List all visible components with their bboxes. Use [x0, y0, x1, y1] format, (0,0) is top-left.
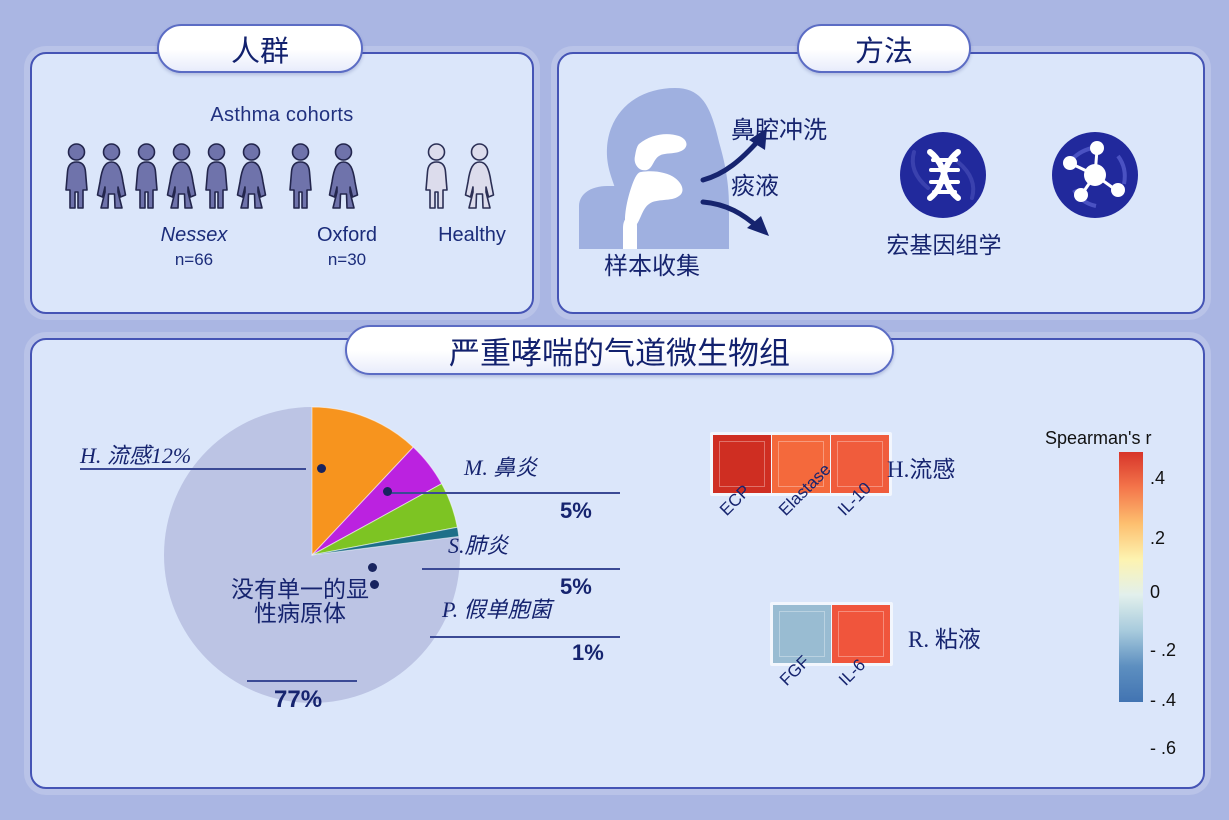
- heatmap-rmucilaginosa-title: R. 粘液: [908, 620, 981, 654]
- colorbar-tick-label: - .4: [1150, 690, 1176, 711]
- pie-center-label: 没有单一的显性病原体: [220, 578, 380, 626]
- label-sputum: 痰液: [731, 166, 779, 201]
- pie-callout-mcat-label: M. 鼻炎: [464, 450, 537, 482]
- label-sample-collection: 样本收集: [604, 246, 700, 281]
- cohort-heading: Asthma cohorts: [32, 104, 532, 127]
- heatmap-rmucilaginosa: [770, 602, 893, 666]
- pie-leader-none: [247, 680, 357, 682]
- person-icon: [235, 142, 268, 212]
- pie-callout-hflu: H. 流感12%: [80, 438, 191, 470]
- colorbar-gradient: [1119, 452, 1143, 702]
- people-row: [32, 142, 532, 218]
- pie-callout-spneu-label: S.肺炎: [448, 528, 509, 560]
- pie-pct-none: 77%: [274, 686, 322, 714]
- cohort-count-nessex: n=66: [124, 250, 264, 270]
- heatmap-cell: [832, 605, 890, 663]
- pie-leader-hflu: [80, 468, 306, 470]
- pie-leader-mcat: [390, 492, 620, 494]
- people-group-healthy: [420, 142, 496, 212]
- label-metagenomics: 宏基因组学: [870, 226, 1018, 260]
- network-icon: [1052, 132, 1138, 218]
- person-icon: [60, 142, 93, 212]
- colorbar-title: Spearman's r: [1045, 428, 1151, 449]
- panel-title-results: 严重哮喘的气道微生物组: [345, 325, 894, 375]
- colorbar-tick-label: - .2: [1150, 640, 1176, 661]
- person-icon: [463, 142, 496, 212]
- heatmap-hinfluenzae-title: H.流感: [887, 450, 955, 484]
- pie-pct-mcat: 5%: [560, 498, 592, 524]
- person-icon: [95, 142, 128, 212]
- person-icon: [420, 142, 453, 212]
- colorbar-tick-label: 0: [1150, 582, 1160, 603]
- person-icon: [327, 142, 360, 212]
- results-panel: H. 流感12% M. 鼻炎 5% S.肺炎 5% P. 假单胞菌 1% 没有单…: [30, 338, 1205, 789]
- cohort-count-oxford: n=30: [277, 250, 417, 270]
- cohort-panel: Asthma cohorts Nessex n=66 Oxford n=30 H…: [30, 52, 534, 314]
- infographic-root: Asthma cohorts Nessex n=66 Oxford n=30 H…: [0, 0, 1229, 820]
- label-nasal-lavage: 鼻腔冲洗: [731, 110, 827, 145]
- person-icon: [200, 142, 233, 212]
- pie-leader-spneu: [422, 568, 620, 570]
- pie-callout-hflu-label: H. 流感12%: [80, 443, 191, 468]
- pie-leader-dot-mcat: [383, 487, 392, 496]
- methods-panel: 鼻腔冲洗 痰液 样本收集: [557, 52, 1205, 314]
- person-icon: [165, 142, 198, 212]
- pie-callout-pseudo-label: P. 假单胞菌: [442, 592, 552, 624]
- people-group-nessex: [60, 142, 268, 212]
- pie-leader-dot-hflu: [317, 464, 326, 473]
- cohort-label-oxford: Oxford: [277, 224, 417, 247]
- pie-chart: [162, 405, 462, 705]
- pie-leader-dot-spneu: [368, 563, 377, 572]
- cohort-label-nessex: Nessex: [124, 224, 264, 247]
- panel-title-cohort: 人群: [157, 24, 363, 73]
- pie-leader-pseudo: [430, 636, 620, 638]
- people-group-oxford: [284, 142, 360, 212]
- dna-icon: [900, 132, 986, 218]
- person-icon: [130, 142, 163, 212]
- cohort-label-healthy: Healthy: [402, 224, 542, 247]
- panel-title-methods: 方法: [797, 24, 971, 73]
- colorbar-tick-label: .4: [1150, 468, 1165, 489]
- colorbar-tick-label: .2: [1150, 528, 1165, 549]
- pie-pct-pseudo: 1%: [572, 640, 604, 666]
- person-icon: [284, 142, 317, 212]
- pie-pct-spneu: 5%: [560, 574, 592, 600]
- colorbar-tick-label: - .6: [1150, 738, 1176, 759]
